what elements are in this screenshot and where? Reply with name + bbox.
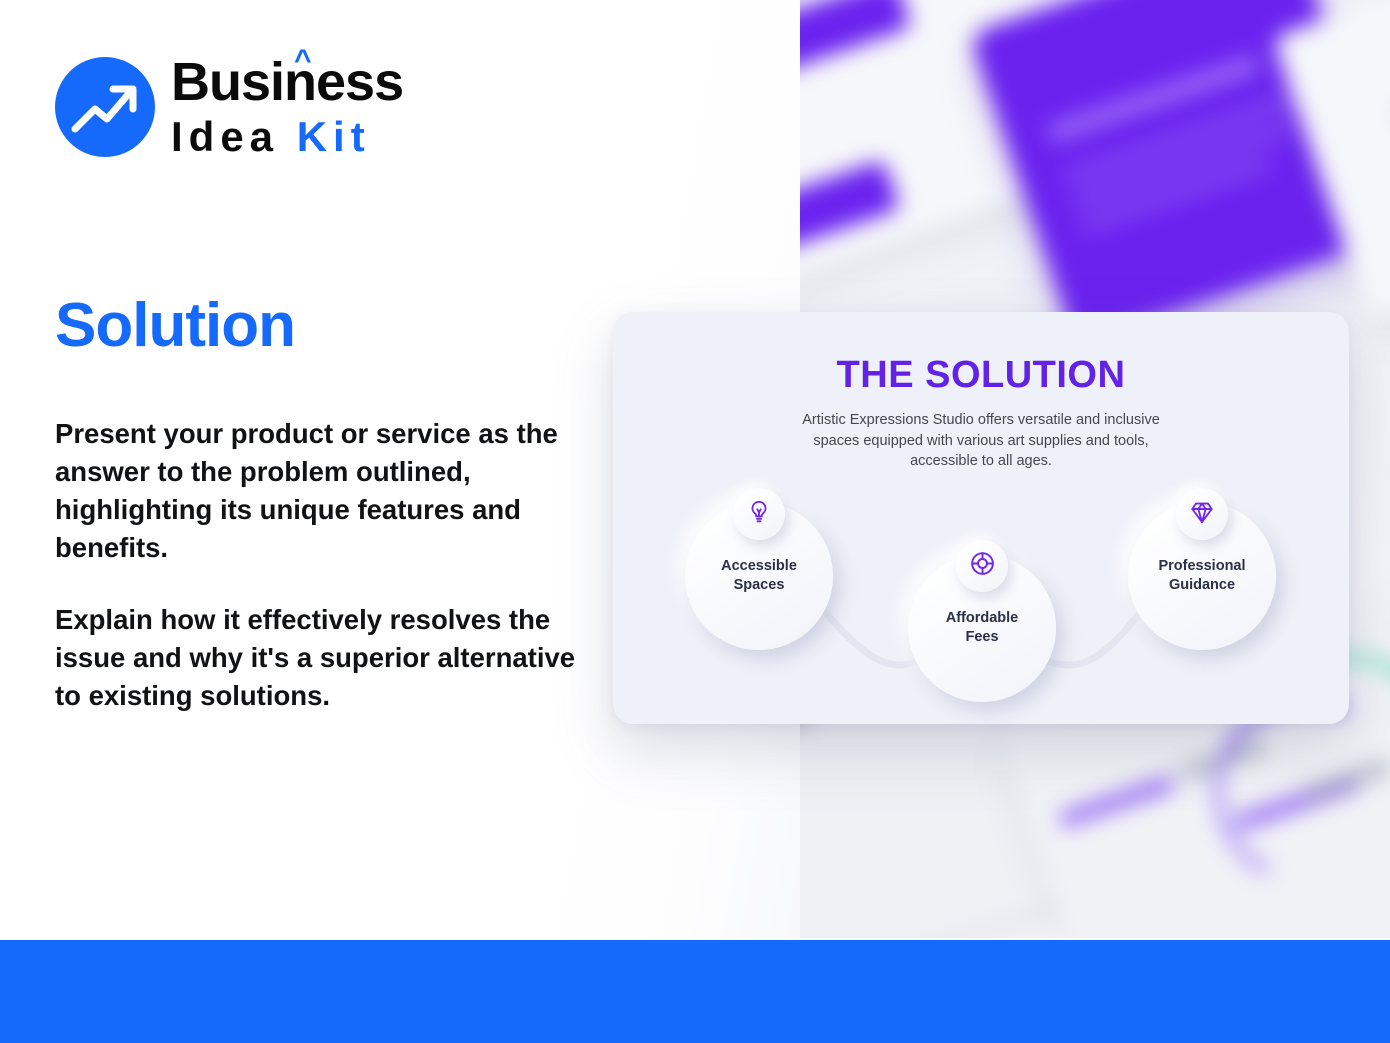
- lightbulb-icon: [746, 499, 772, 530]
- brand-name-line-1: Business ^: [171, 55, 403, 109]
- node-icon-chip: [1176, 488, 1228, 540]
- solution-preview-card: THE SOLUTION Artistic Expressions Studio…: [613, 312, 1349, 724]
- lifebuoy-icon: [969, 550, 996, 582]
- footer-bar: [0, 940, 1390, 1043]
- node-label-line-2: Fees: [965, 629, 998, 645]
- page-title: Solution: [55, 295, 295, 357]
- brand-name-kit: Kit: [297, 113, 371, 160]
- slide-page: Business ^ Idea Kit Solution Present you…: [0, 0, 1390, 1043]
- node-label-line-2: Spaces: [734, 577, 785, 593]
- node-label-line-1: Professional: [1158, 558, 1245, 574]
- brand-logo: Business ^ Idea Kit: [55, 55, 403, 158]
- node-label-line-1: Accessible: [721, 558, 797, 574]
- solution-node-group: Accessible Spaces: [613, 472, 1349, 724]
- node-label: Affordable Fees: [946, 609, 1019, 646]
- body-paragraph-2: Explain how it effectively resolves the …: [55, 601, 585, 715]
- diamond-icon: [1189, 499, 1215, 530]
- brand-name-idea: Idea: [171, 113, 297, 160]
- brand-name-line-2: Idea Kit: [171, 116, 403, 158]
- body-paragraph-1: Present your product or service as the a…: [55, 415, 585, 567]
- circumflex-accent-icon: ^: [294, 46, 311, 76]
- page-body-copy: Present your product or service as the a…: [55, 415, 585, 715]
- node-icon-chip: [733, 488, 785, 540]
- brand-name-business: Business: [171, 52, 403, 112]
- node-label-line-1: Affordable: [946, 610, 1019, 626]
- solution-card-subtitle: Artistic Expressions Studio offers versa…: [801, 410, 1161, 472]
- node-label: Professional Guidance: [1158, 557, 1245, 594]
- node-icon-chip: [956, 540, 1008, 592]
- growth-arrow-icon: [55, 57, 155, 157]
- solution-card-title: THE SOLUTION: [613, 354, 1349, 397]
- node-label-line-2: Guidance: [1169, 577, 1235, 593]
- node-label: Accessible Spaces: [721, 557, 797, 594]
- brand-wordmark: Business ^ Idea Kit: [171, 55, 403, 158]
